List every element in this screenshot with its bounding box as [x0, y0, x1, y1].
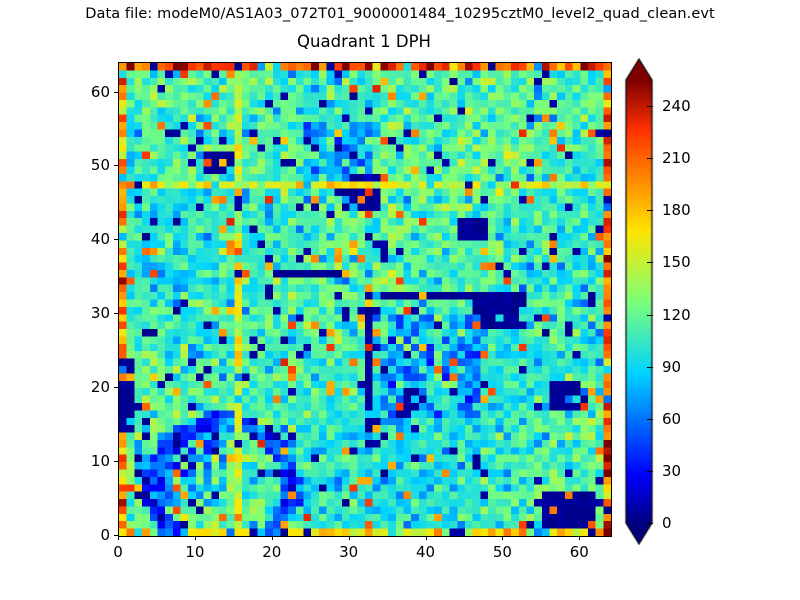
y-tick-label: 50 — [70, 156, 110, 174]
y-tick — [114, 92, 118, 93]
y-tick-label: 40 — [70, 230, 110, 248]
heatmap-image[interactable] — [119, 63, 611, 536]
x-tick-label: 60 — [570, 543, 589, 561]
colorbar-gradient — [624, 58, 654, 545]
colorbar-tick — [647, 262, 653, 263]
x-tick — [426, 536, 427, 540]
y-tick — [114, 461, 118, 462]
colorbar-tick-label: 120 — [662, 306, 691, 324]
colorbar-tick-label: 30 — [662, 462, 681, 480]
colorbar-tick — [647, 315, 653, 316]
y-tick — [114, 387, 118, 388]
y-tick-label: 30 — [70, 304, 110, 322]
figure-canvas: Data file: modeM0/AS1A03_072T01_90000014… — [0, 0, 800, 600]
x-tick-label: 40 — [416, 543, 435, 561]
colorbar-tick-label: 90 — [662, 358, 681, 376]
x-tick — [118, 536, 119, 540]
y-tick-label: 20 — [70, 378, 110, 396]
y-tick — [114, 535, 118, 536]
figure-suptitle: Data file: modeM0/AS1A03_072T01_90000014… — [0, 6, 800, 22]
x-tick-label: 10 — [185, 543, 204, 561]
y-tick-label: 10 — [70, 452, 110, 470]
x-tick — [502, 536, 503, 540]
colorbar[interactable] — [624, 58, 654, 545]
x-tick-label: 30 — [339, 543, 358, 561]
colorbar-tick-label: 0 — [662, 514, 672, 532]
colorbar-tick-label: 180 — [662, 201, 691, 219]
y-tick — [114, 313, 118, 314]
colorbar-tick-label: 210 — [662, 149, 691, 167]
x-tick-label: 0 — [113, 543, 123, 561]
x-tick-label: 50 — [493, 543, 512, 561]
x-tick-label: 20 — [262, 543, 281, 561]
colorbar-tick-label: 150 — [662, 253, 691, 271]
heatmap-axes[interactable] — [118, 62, 612, 537]
colorbar-tick — [647, 158, 653, 159]
x-tick — [195, 536, 196, 540]
page-title: Quadrant 1 DPH — [118, 32, 610, 51]
colorbar-tick — [647, 106, 653, 107]
colorbar-tick — [647, 367, 653, 368]
colorbar-tick-label: 240 — [662, 97, 691, 115]
y-tick-label: 0 — [70, 526, 110, 544]
x-tick — [579, 536, 580, 540]
colorbar-tick-label: 60 — [662, 410, 681, 428]
y-tick-label: 60 — [70, 83, 110, 101]
colorbar-tick — [647, 523, 653, 524]
colorbar-tick — [647, 210, 653, 211]
colorbar-tick — [647, 419, 653, 420]
y-tick — [114, 239, 118, 240]
y-tick — [114, 165, 118, 166]
colorbar-tick — [647, 471, 653, 472]
x-tick — [272, 536, 273, 540]
x-tick — [349, 536, 350, 540]
